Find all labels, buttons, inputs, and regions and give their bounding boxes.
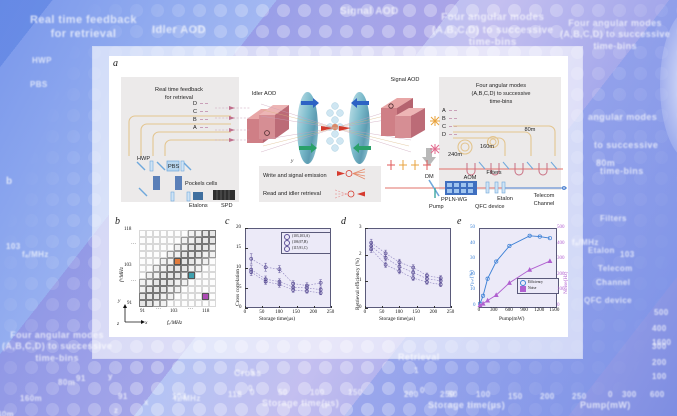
ytick: 15 xyxy=(236,245,241,250)
xtick-mark xyxy=(279,306,280,309)
matrix-cell xyxy=(188,230,195,237)
panel-d: d Storage time(µs) Retrieval efficiency … xyxy=(337,216,455,337)
matrix-cell xyxy=(139,279,146,286)
ytick-mark xyxy=(365,308,368,309)
panel-e-letter: e xyxy=(457,216,461,227)
matrix-cell xyxy=(174,237,181,244)
matrix-cell xyxy=(167,258,174,265)
panel-b-axis-x: x xyxy=(145,320,147,326)
xtick-mark xyxy=(314,306,315,309)
panel-b-ytick-118: 118 xyxy=(124,227,131,232)
panels-b-to-e: b 118 ··· 103 ··· 91 91 ··· 103 ··· 118 … xyxy=(109,216,568,337)
panel-e-ytick-right: 100 xyxy=(557,287,565,292)
axis-y-label-a: y xyxy=(291,158,293,164)
matrix-cell xyxy=(153,244,160,251)
matrix-cell xyxy=(188,244,195,251)
matrix-cell xyxy=(195,272,202,279)
matrix-cell xyxy=(209,265,216,272)
telecom-label: Telecom Channel xyxy=(527,192,561,208)
xtick-mark xyxy=(417,306,418,309)
matrix-cell xyxy=(195,230,202,237)
panel-e-ytick-left: 10 xyxy=(470,287,475,292)
panel-e-ytick-right: 300 xyxy=(557,256,565,261)
matrix-cell xyxy=(174,244,181,251)
panel-d-xlabel: Storage time(µs) xyxy=(379,316,415,322)
matrix-cell xyxy=(195,265,202,272)
matrix-cell xyxy=(139,265,146,272)
xtick: 200 xyxy=(310,310,318,315)
matrix-cell xyxy=(146,286,153,293)
legend-entry: Noise xyxy=(520,286,556,292)
panel-a-letter: a xyxy=(113,58,118,69)
delay-80m-label: 80m xyxy=(522,126,538,134)
matrix-cell xyxy=(209,244,216,251)
matrix-cell xyxy=(174,265,181,272)
matrix-cell xyxy=(153,258,160,265)
legend-glyphs xyxy=(335,168,381,207)
legend-label: (115,91,C) xyxy=(292,246,307,251)
matrix-cell xyxy=(202,230,209,237)
panel-b-xtick-dots-1: ··· xyxy=(156,307,161,312)
matrix-cell xyxy=(202,251,209,258)
matrix-cell xyxy=(209,251,216,258)
signal-aod-label: Signal AOD xyxy=(379,76,431,84)
matrix-cell xyxy=(153,251,160,258)
panel-e-xtick: 1500 xyxy=(549,308,559,313)
xtick: 250 xyxy=(447,310,455,315)
control-arrows xyxy=(295,96,375,165)
panel-d-letter: d xyxy=(341,216,346,227)
matrix-cell xyxy=(153,279,160,286)
panel-e-ytick-left: 50 xyxy=(470,225,475,230)
ytick-mark xyxy=(245,288,248,289)
matrix-cell xyxy=(181,293,188,300)
pulse-train-markers xyxy=(387,156,439,179)
ytick: 10 xyxy=(236,265,241,270)
panel-c-xlabel: Storage time(µs) xyxy=(259,316,295,322)
spd-label: SPD xyxy=(221,202,237,210)
ytick: 0 xyxy=(239,305,242,310)
matrix-cell xyxy=(202,265,209,272)
legend-entry: (115,91,C) xyxy=(284,246,328,252)
matrix-cell xyxy=(167,293,174,300)
ytick: 5 xyxy=(239,285,242,290)
pockels-label: Pockels cells xyxy=(185,180,227,188)
matrix-cell xyxy=(202,258,209,265)
ytick-mark xyxy=(245,308,248,309)
ytick: 20 xyxy=(236,225,241,230)
legend-marker xyxy=(284,246,290,252)
matrix-cell xyxy=(139,244,146,251)
xtick: 100 xyxy=(275,310,283,315)
ytick-mark xyxy=(365,255,368,256)
legend-label: Noise xyxy=(528,286,536,291)
matrix-cell xyxy=(202,272,209,279)
matrix-cell xyxy=(167,300,174,307)
xtick: 150 xyxy=(412,310,420,315)
panel-b-ylabel: fᵇ/MHz xyxy=(119,267,125,282)
matrix-cell xyxy=(146,237,153,244)
axis-gizmo-panel-b xyxy=(121,302,147,333)
matrix-cell xyxy=(209,272,216,279)
panel-b-xlabel: fₐ/MHz xyxy=(167,320,182,326)
matrix-cell xyxy=(181,265,188,272)
matrix-cell xyxy=(160,251,167,258)
matrix-cell xyxy=(195,258,202,265)
ytick-mark xyxy=(245,228,248,229)
matrix-cell xyxy=(153,272,160,279)
legend-label: (106,97,B) xyxy=(292,240,308,245)
matrix-cell xyxy=(174,272,181,279)
matrix-cell xyxy=(202,300,209,307)
matrix-cell xyxy=(167,230,174,237)
filters-label: Filters xyxy=(483,169,505,177)
panel-b-ytick-dots-1: ··· xyxy=(131,242,136,247)
ytick: 3 xyxy=(359,225,362,230)
matrix-cell xyxy=(167,286,174,293)
matrix-cell xyxy=(160,258,167,265)
matrix-cell xyxy=(153,265,160,272)
panel-d-ylabel: Retrieval efficiency (%) xyxy=(355,258,361,310)
matrix-cell xyxy=(174,293,181,300)
panel-e-ytick-right: 0 xyxy=(557,303,560,308)
matrix-cell xyxy=(209,258,216,265)
matrix-cell xyxy=(209,286,216,293)
matrix-cell xyxy=(195,286,202,293)
angular-modes-title: Four angular modes (A,B,C,D) to successi… xyxy=(445,82,557,106)
panel-c-legend: (103,103,A)(106,97,B)(115,91,C) xyxy=(281,232,331,254)
ytick: 0 xyxy=(359,305,362,310)
matrix-cell xyxy=(139,286,146,293)
matrix-cell xyxy=(146,293,153,300)
matrix-cell xyxy=(174,279,181,286)
panel-e-ytick-left: 30 xyxy=(470,256,475,261)
matrix-cell xyxy=(167,244,174,251)
matrix-cell xyxy=(181,272,188,279)
matrix-cell xyxy=(209,237,216,244)
correlation-matrix xyxy=(139,230,216,307)
panel-b-ytick-dots-2: ··· xyxy=(131,279,136,284)
matrix-cell xyxy=(146,258,153,265)
matrix-cell xyxy=(202,293,209,300)
matrix-cell xyxy=(181,300,188,307)
panel-d-axes xyxy=(365,228,451,308)
xtick-mark xyxy=(382,306,383,309)
matrix-cell xyxy=(139,237,146,244)
panel-e-ytick-left: 0 xyxy=(473,303,476,308)
panel-e-xtick: 1200 xyxy=(534,308,544,313)
matrix-cell xyxy=(209,293,216,300)
matrix-cell xyxy=(195,244,202,251)
matrix-cell xyxy=(167,272,174,279)
matrix-cell xyxy=(195,293,202,300)
matrix-cell xyxy=(160,279,167,286)
matrix-cell xyxy=(146,300,153,307)
qfc-device-label: QFC device xyxy=(475,203,509,211)
matrix-cell xyxy=(139,258,146,265)
matrix-cell xyxy=(188,286,195,293)
xtick: 250 xyxy=(327,310,335,315)
legend-label: (103,103,A) xyxy=(292,234,310,239)
panel-b-letter: b xyxy=(115,216,120,227)
matrix-cell xyxy=(188,258,195,265)
matrix-cell xyxy=(153,230,160,237)
delay-240m-label: 240m xyxy=(445,151,465,159)
panel-e-legend: EfficiencyNoise xyxy=(517,278,559,294)
legend-write-signal-label: Write and signal emission xyxy=(263,172,343,180)
matrix-cell xyxy=(181,237,188,244)
matrix-cell xyxy=(195,237,202,244)
panel-e-xtick: 0 xyxy=(478,308,481,313)
xtick-mark xyxy=(399,306,400,309)
xtick-mark xyxy=(434,306,435,309)
matrix-cell xyxy=(146,251,153,258)
matrix-cell xyxy=(160,230,167,237)
matrix-cell xyxy=(160,237,167,244)
matrix-cell xyxy=(160,300,167,307)
pump-label: Pump xyxy=(429,203,445,211)
panel-e-ytick-right: 200 xyxy=(557,272,565,277)
xtick: 0 xyxy=(244,310,247,315)
ytick: 1 xyxy=(359,278,362,283)
panel-e-ytick-left: 40 xyxy=(470,241,475,246)
matrix-cell xyxy=(181,286,188,293)
matrix-cell xyxy=(195,251,202,258)
etalons-label: Etalons xyxy=(189,202,215,210)
xtick-mark xyxy=(451,306,452,309)
panel-b-ytick-103: 103 xyxy=(124,263,132,268)
matrix-cell xyxy=(202,244,209,251)
panel-e-xtick: 600 xyxy=(505,308,513,313)
ytick-mark xyxy=(245,248,248,249)
panel-e-xtick: 900 xyxy=(520,308,528,313)
scientific-figure: a Real time feedback for retrieval Idler… xyxy=(109,56,568,337)
matrix-cell xyxy=(202,279,209,286)
ytick: 2 xyxy=(359,252,362,257)
panel-e-xlabel: Pump(mW) xyxy=(499,316,524,322)
xtick: 150 xyxy=(292,310,300,315)
xtick-mark xyxy=(331,306,332,309)
legend-label: Efficiency xyxy=(528,280,543,285)
panel-e-ytick-right: 400 xyxy=(557,241,565,246)
ytick-mark xyxy=(365,281,368,282)
matrix-cell xyxy=(181,251,188,258)
delay-160m-label: 160m xyxy=(477,143,497,151)
matrix-cell xyxy=(153,293,160,300)
matrix-cell xyxy=(188,279,195,286)
matrix-cell xyxy=(209,279,216,286)
xtick-mark xyxy=(262,306,263,309)
matrix-cell xyxy=(209,300,216,307)
matrix-cell xyxy=(174,300,181,307)
matrix-cell xyxy=(160,244,167,251)
panel-b-axis-z: z xyxy=(117,321,119,327)
matrix-cell xyxy=(188,300,195,307)
matrix-cell xyxy=(153,237,160,244)
matrix-cell xyxy=(139,272,146,279)
matrix-cell xyxy=(181,244,188,251)
panel-e-ytick-right: 500 xyxy=(557,225,565,230)
ppln-label: PPLN-WG xyxy=(441,196,471,204)
matrix-cell xyxy=(188,251,195,258)
matrix-cell xyxy=(139,293,146,300)
xtick-mark xyxy=(297,306,298,309)
matrix-cell xyxy=(167,251,174,258)
matrix-cell xyxy=(188,293,195,300)
panel-b-xtick-dots-2: ··· xyxy=(188,307,193,312)
panel-e-ytick-left: 20 xyxy=(470,272,475,277)
etalon-label: Etalon xyxy=(494,195,516,203)
matrix-cell xyxy=(146,244,153,251)
matrix-cell xyxy=(160,265,167,272)
panel-b-xtick-103: 103 xyxy=(170,309,178,314)
matrix-cell xyxy=(160,272,167,279)
matrix-cell xyxy=(167,279,174,286)
matrix-cell xyxy=(195,279,202,286)
matrix-cell xyxy=(167,265,174,272)
panel-b: b 118 ··· 103 ··· 91 91 ··· 103 ··· 118 … xyxy=(109,216,219,337)
matrix-cell xyxy=(160,293,167,300)
legend-marker xyxy=(520,286,526,292)
panel-a: a Real time feedback for retrieval Idler… xyxy=(109,56,568,216)
panel-c: c (103,103,A)(106,97,B)(115,91,C) Storag… xyxy=(219,216,337,337)
matrix-cell xyxy=(174,230,181,237)
matrix-cell xyxy=(153,300,160,307)
signal-aod-crystal xyxy=(377,94,429,151)
xtick: 50 xyxy=(379,310,384,315)
matrix-cell xyxy=(188,265,195,272)
matrix-cell xyxy=(160,286,167,293)
idler-beam-paths xyxy=(215,104,251,157)
matrix-cell xyxy=(174,258,181,265)
matrix-cell xyxy=(188,237,195,244)
matrix-cell xyxy=(146,265,153,272)
matrix-cell xyxy=(139,230,146,237)
matrix-cell xyxy=(188,272,195,279)
matrix-cell xyxy=(202,237,209,244)
matrix-cell xyxy=(146,230,153,237)
xtick: 100 xyxy=(395,310,403,315)
panel-e-axes xyxy=(479,228,557,308)
panel-e: e EfficiencyNoise Pump(mW) ηₛₑₜ(%) Noise… xyxy=(455,216,568,337)
matrix-cell xyxy=(174,286,181,293)
matrix-cell xyxy=(167,237,174,244)
matrix-cell xyxy=(181,258,188,265)
panel-c-letter: c xyxy=(225,216,229,227)
matrix-cell xyxy=(209,230,216,237)
panel-b-axis-y: y xyxy=(118,298,120,304)
mode-right-arrow xyxy=(449,110,457,111)
matrix-cell xyxy=(195,300,202,307)
ytick-mark xyxy=(365,228,368,229)
matrix-cell xyxy=(202,286,209,293)
matrix-cell xyxy=(139,251,146,258)
xtick: 50 xyxy=(259,310,264,315)
xtick: 0 xyxy=(364,310,367,315)
ytick-mark xyxy=(245,268,248,269)
matrix-cell xyxy=(174,251,181,258)
matrix-cell xyxy=(146,272,153,279)
matrix-cell xyxy=(153,286,160,293)
legend-read-idler-label: Read and idler retrieval xyxy=(263,190,343,198)
xtick: 200 xyxy=(430,310,438,315)
matrix-cell xyxy=(181,279,188,286)
matrix-cell xyxy=(181,230,188,237)
matrix-cell xyxy=(146,279,153,286)
panel-b-xtick-118: 118 xyxy=(202,309,209,314)
panel-e-xtick: 300 xyxy=(490,308,498,313)
